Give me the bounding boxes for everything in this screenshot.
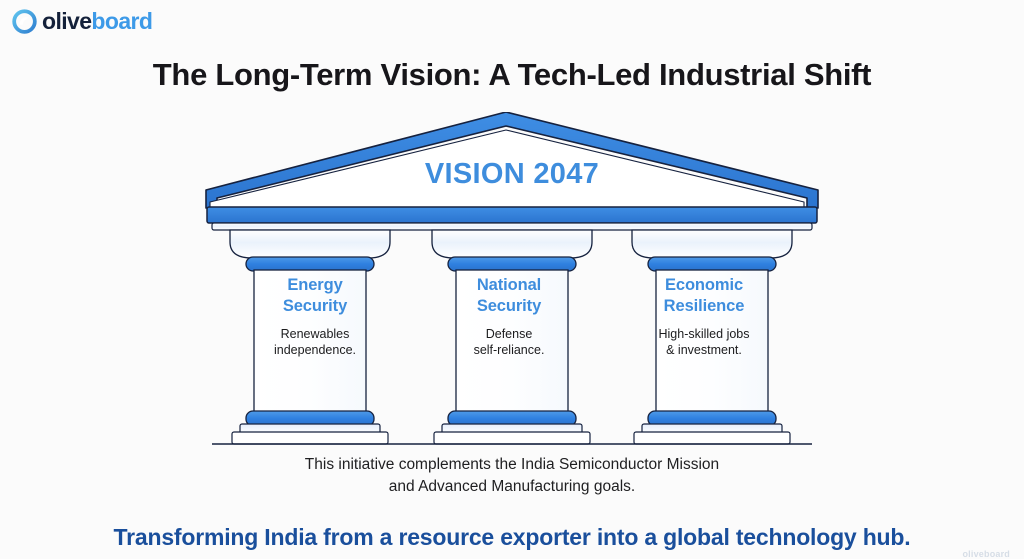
column-shaft (254, 270, 366, 416)
tagline-text: Transforming India from a resource expor… (0, 524, 1024, 551)
column-capital-ring (648, 257, 776, 271)
column-shaft (656, 270, 768, 416)
caption-text: This initiative complements the India Se… (0, 454, 1024, 498)
column-capital (632, 230, 792, 258)
column-base-step-2 (232, 432, 388, 444)
logo-word-olive: olive (42, 8, 91, 34)
entablature-bar (207, 207, 817, 223)
temple-illustration (204, 112, 820, 448)
footer-watermark: oliveboard (962, 549, 1010, 559)
logo-word-board: board (91, 8, 152, 34)
column-energy-security (230, 230, 390, 444)
column-capital (432, 230, 592, 258)
column-base-step-2 (434, 432, 590, 444)
vision-temple-graphic: VISION 2047 Energy Security Renewables i… (204, 112, 820, 448)
oliveboard-wordmark: oliveboard (42, 10, 152, 33)
column-base-step-2 (634, 432, 790, 444)
architrave-bar (212, 223, 812, 230)
oliveboard-circle-icon (12, 9, 37, 34)
column-capital (230, 230, 390, 258)
page-title: The Long-Term Vision: A Tech-Led Industr… (0, 57, 1024, 93)
column-national-security (432, 230, 592, 444)
oliveboard-logo: oliveboard (12, 9, 152, 34)
caption-line-1: This initiative complements the India Se… (0, 454, 1024, 476)
column-shaft (456, 270, 568, 416)
column-economic-resilience (632, 230, 792, 444)
caption-line-2: and Advanced Manufacturing goals. (0, 476, 1024, 498)
column-capital-ring (246, 257, 374, 271)
column-capital-ring (448, 257, 576, 271)
